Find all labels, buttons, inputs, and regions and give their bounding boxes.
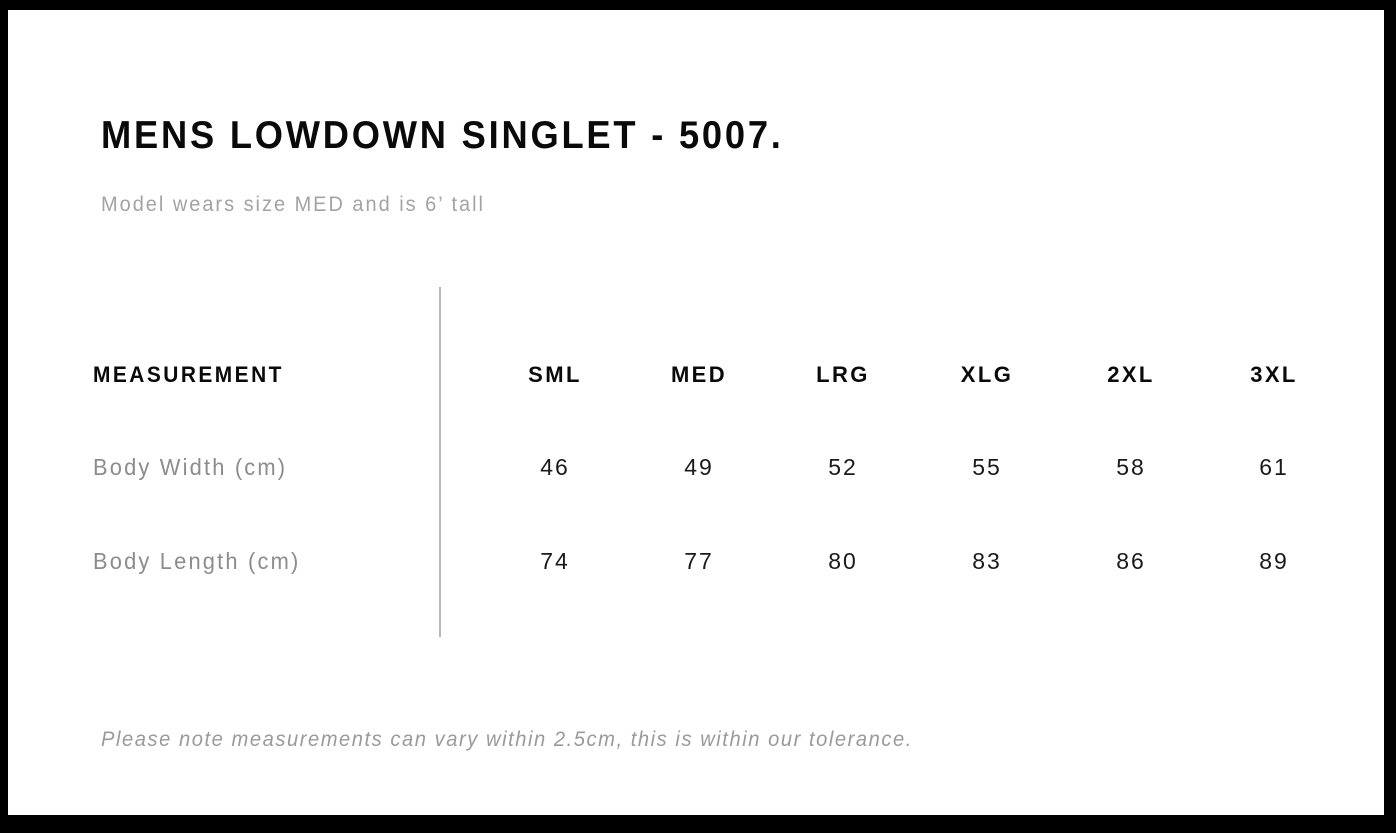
table-header-row: MEASUREMENT SML MED LRG XLG 2XL 3XL: [8, 355, 1384, 395]
black-frame: MENS LOWDOWN SINGLET - 5007. Model wears…: [0, 0, 1396, 833]
cell-body-length-2xl: 86: [1071, 541, 1191, 581]
row-label-body-length: Body Length (cm): [93, 541, 300, 581]
size-chart-card: MENS LOWDOWN SINGLET - 5007. Model wears…: [8, 10, 1384, 815]
tolerance-footnote: Please note measurements can vary within…: [101, 728, 913, 752]
column-header-3xl: 3XL: [1214, 355, 1334, 395]
column-header-sml: SML: [495, 355, 615, 395]
cell-body-length-lrg: 80: [783, 541, 903, 581]
column-header-measurement: MEASUREMENT: [93, 355, 284, 395]
cell-body-width-2xl: 58: [1071, 447, 1191, 487]
column-header-2xl: 2XL: [1071, 355, 1191, 395]
row-label-body-width: Body Width (cm): [93, 447, 287, 487]
cell-body-length-sml: 74: [495, 541, 615, 581]
size-chart-table: MEASUREMENT SML MED LRG XLG 2XL 3XL Body…: [8, 10, 1384, 815]
cell-body-length-xlg: 83: [927, 541, 1047, 581]
table-row: Body Width (cm) 46 49 52 55 58 61: [8, 447, 1384, 487]
cell-body-length-med: 77: [639, 541, 759, 581]
column-header-med: MED: [639, 355, 759, 395]
cell-body-width-sml: 46: [495, 447, 615, 487]
cell-body-width-3xl: 61: [1214, 447, 1334, 487]
cell-body-length-3xl: 89: [1214, 541, 1334, 581]
cell-body-width-lrg: 52: [783, 447, 903, 487]
table-row: Body Length (cm) 74 77 80 83 86 89: [8, 541, 1384, 581]
column-header-lrg: LRG: [783, 355, 903, 395]
cell-body-width-xlg: 55: [927, 447, 1047, 487]
cell-body-width-med: 49: [639, 447, 759, 487]
column-header-xlg: XLG: [927, 355, 1047, 395]
